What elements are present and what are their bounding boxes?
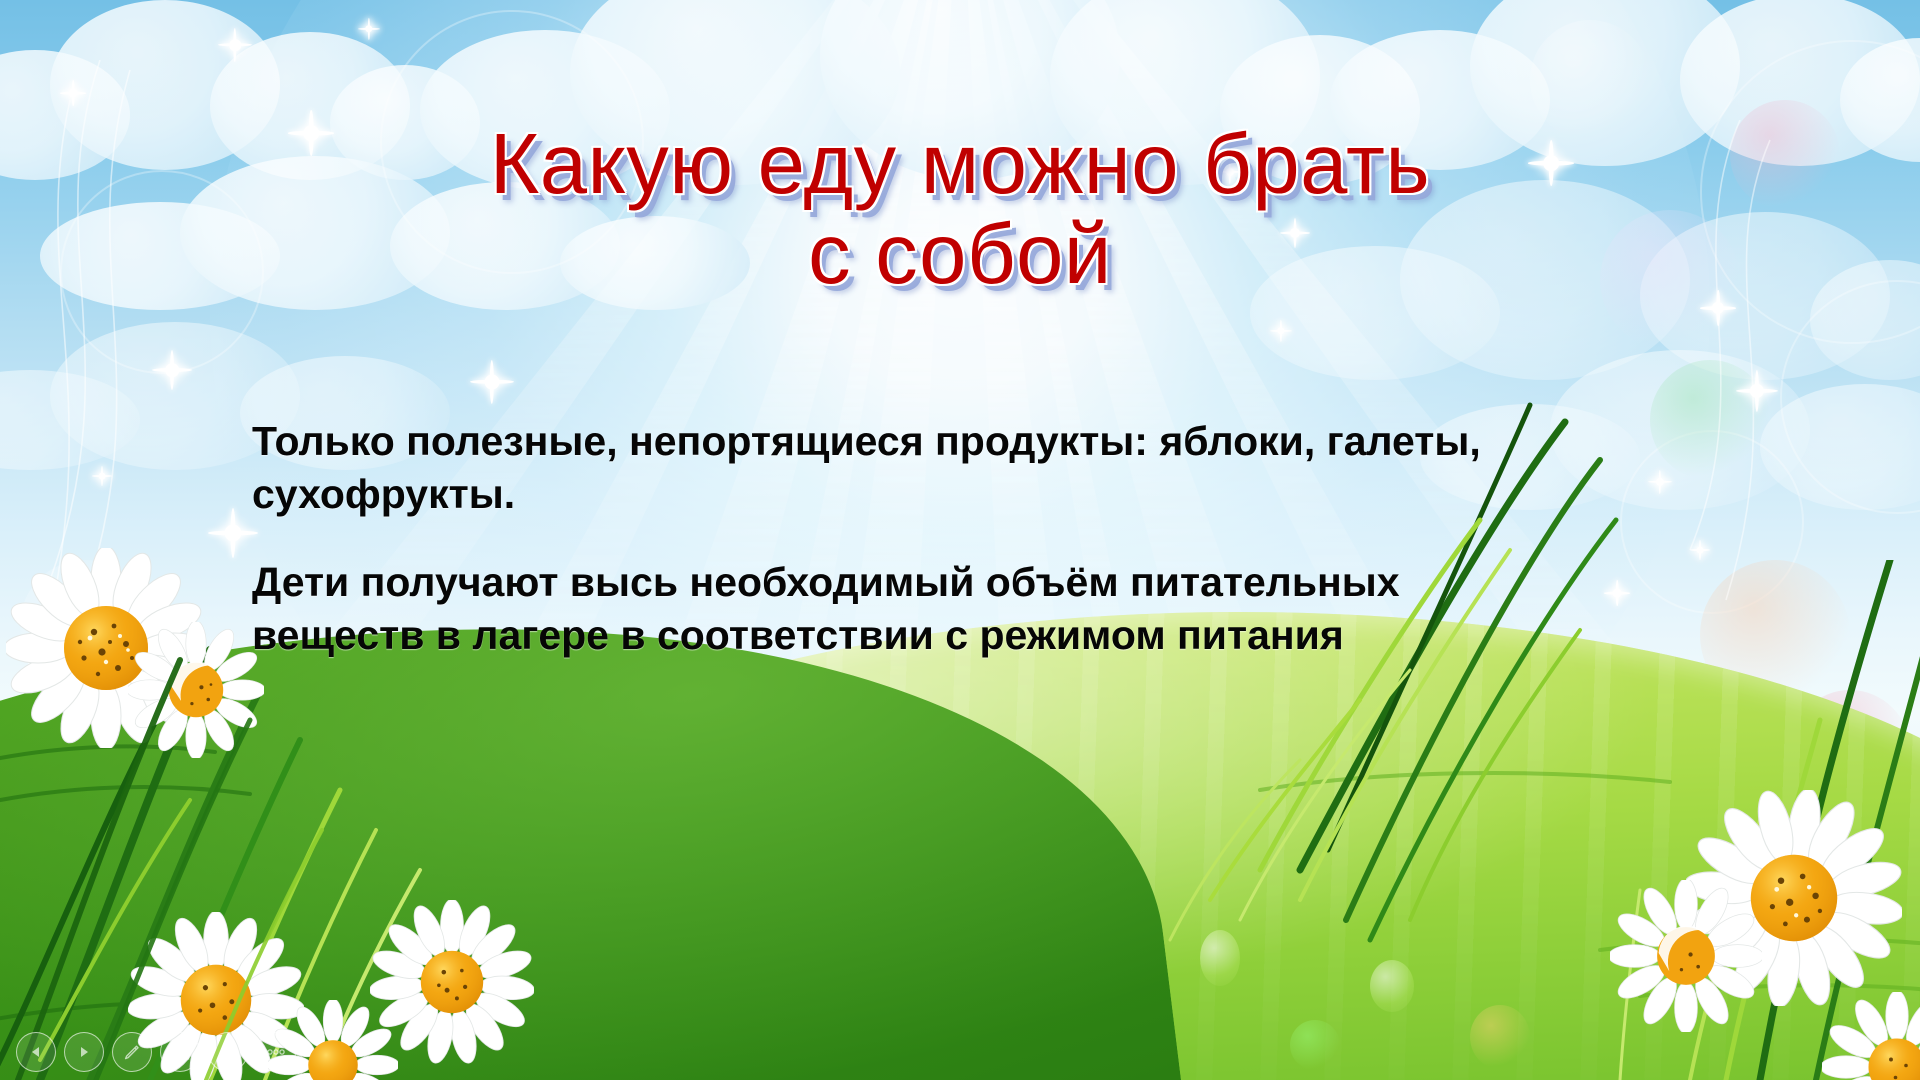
sparkle-star xyxy=(1604,580,1630,606)
sparkle-star xyxy=(1648,470,1672,494)
grass-bokeh xyxy=(1000,960,1046,1030)
sparkle-star xyxy=(470,360,514,404)
grid-slides-icon xyxy=(171,1044,190,1061)
previous-slide-button[interactable] xyxy=(16,1032,56,1072)
presentation-slide: Какую еду можно брать с собой Только пол… xyxy=(0,0,1920,1080)
grass-bokeh xyxy=(1090,1010,1142,1070)
next-slide-button[interactable] xyxy=(64,1032,104,1072)
sparkle-star xyxy=(92,466,112,486)
grass-blades-far-right xyxy=(1580,560,1920,1080)
sparkle-star xyxy=(120,612,150,642)
hill-light xyxy=(380,612,1920,1080)
daisy-flower xyxy=(370,900,534,1064)
grass-bokeh xyxy=(930,880,988,966)
sparkle-star xyxy=(60,80,86,106)
sparkle-star xyxy=(218,28,252,62)
daisy-flower xyxy=(128,622,264,758)
sparkle-star xyxy=(152,350,192,390)
bokeh-bubble xyxy=(20,560,150,690)
slideshow-control-bar xyxy=(16,1032,296,1072)
body-paragraph-2: Дети получают высь необходимый объём пит… xyxy=(252,556,1562,663)
sparkle-star xyxy=(1690,540,1710,560)
daisy-flower xyxy=(6,548,206,748)
sparkle-star xyxy=(1736,370,1778,412)
grass-bokeh xyxy=(700,1000,746,1060)
bokeh-bubble xyxy=(1780,280,1920,514)
ellipsis-icon xyxy=(266,1048,286,1056)
hill-light-strokes xyxy=(1240,760,1920,1080)
sparkle-star xyxy=(208,508,258,558)
daisy-flower xyxy=(1610,880,1762,1032)
bokeh-bubble xyxy=(1650,360,1770,480)
hill-light-rays xyxy=(380,612,1920,1080)
pen-tool-button[interactable] xyxy=(112,1032,152,1072)
body-paragraph-1: Только полезные, непортящиеся продукты: … xyxy=(252,415,1562,522)
hill-dark-strokes xyxy=(0,690,760,1080)
bokeh-bubble xyxy=(1620,430,1804,614)
triangle-left-icon xyxy=(28,1044,44,1060)
all-slides-button[interactable] xyxy=(160,1032,200,1072)
slide-body: Только полезные, непортящиеся продукты: … xyxy=(252,415,1562,662)
bokeh-bubble xyxy=(1790,690,1910,810)
zoom-button[interactable] xyxy=(208,1032,248,1072)
pen-icon xyxy=(123,1043,141,1061)
grass-bokeh xyxy=(1290,1020,1340,1070)
more-options-button[interactable] xyxy=(256,1032,296,1072)
grass-bokeh xyxy=(800,760,872,864)
grass-bokeh xyxy=(1470,1005,1530,1069)
slide-title: Какую еду можно брать с собой xyxy=(0,120,1920,300)
grass-bokeh xyxy=(1370,960,1414,1012)
bokeh-bubble xyxy=(1700,560,1850,710)
magnifier-icon xyxy=(219,1043,237,1061)
grass-bokeh xyxy=(1200,930,1240,986)
daisy-flower xyxy=(1822,992,1920,1080)
daisy-flower xyxy=(1686,790,1902,1006)
triangle-right-icon xyxy=(76,1044,92,1060)
sparkle-star xyxy=(1270,320,1292,342)
sparkle-star xyxy=(358,18,380,40)
